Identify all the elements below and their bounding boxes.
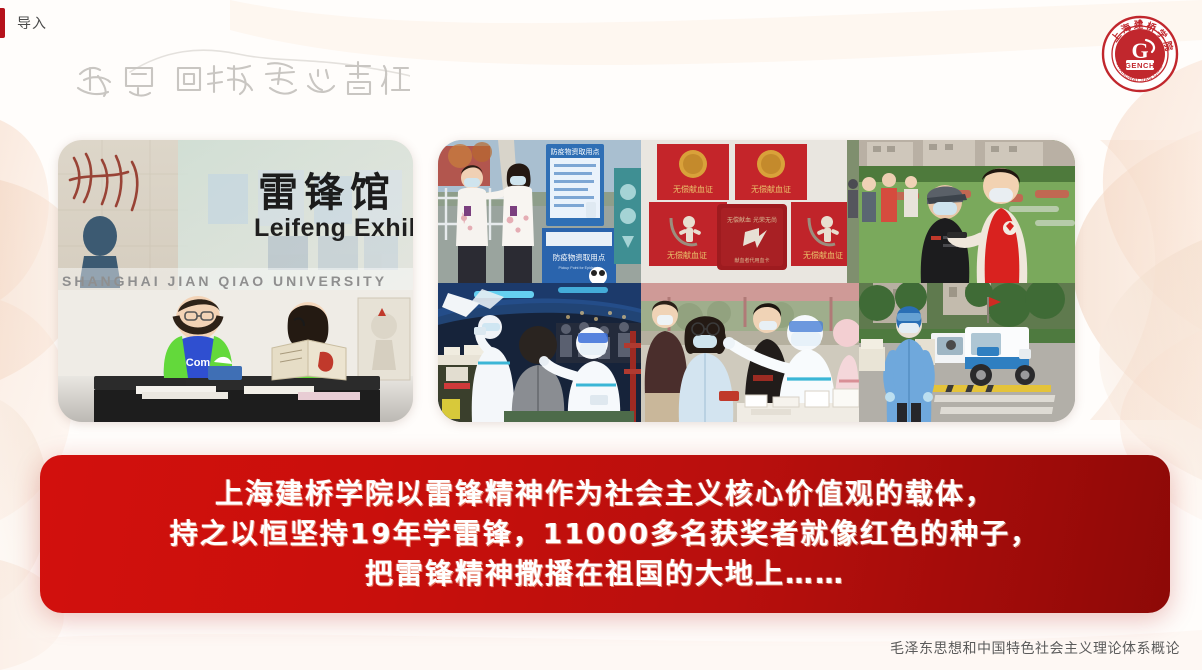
photo-grid: 防疫物资取用点 防疫物资取用点 Pickup Point for Epidemi… xyxy=(438,140,1075,422)
svg-text:无偿献血证: 无偿献血证 xyxy=(751,184,791,194)
photo-volunteers-supply-point: 防疫物资取用点 防疫物资取用点 Pickup Point for Epidemi… xyxy=(438,140,641,283)
photo-blue-ppe-volunteer-truck xyxy=(859,283,1075,422)
section-tag: 导入 xyxy=(0,8,47,38)
hero-photo-illustration: 雷锋馆 Leifeng Exhibition SHANGHAI JIAN QIA… xyxy=(58,140,413,422)
photo-2-illustration: 无偿献血证 无偿献血证 无偿献血证 无偿献血证 无偿献血 光荣无尚 xyxy=(641,140,859,283)
hero-title-cn: 雷锋馆 xyxy=(258,170,396,216)
highlight-banner: 上海建桥学院以雷锋精神作为社会主义核心价值观的载体， 持之以恒坚持19年学雷锋，… xyxy=(40,455,1170,613)
hero-glass-text: SHANGHAI JIAN QIAO UNIVERSITY xyxy=(62,273,387,289)
university-logo-mark: G GENCH 上海建桥学院 SHANGHAI JIAN QIAO UNIVER… xyxy=(1100,14,1180,94)
svg-text:Com: Com xyxy=(186,357,211,369)
section-tag-accent-bar xyxy=(0,8,5,38)
photo-3-illustration xyxy=(859,140,1075,283)
banner-line-1: 上海建桥学院以雷锋精神作为社会主义核心价值观的载体， xyxy=(215,474,995,514)
svg-text:防疫物资取用点: 防疫物资取用点 xyxy=(553,252,606,262)
photo-6-illustration xyxy=(859,283,1075,422)
photo-5-illustration xyxy=(641,283,859,422)
hero-title-en: Leifeng Exhibition xyxy=(254,214,413,242)
photo-day-nucleic-acid-test xyxy=(641,283,859,422)
svg-text:无偿献血证: 无偿献血证 xyxy=(667,250,707,260)
photo-red-vest-volunteer-field xyxy=(859,140,1075,283)
calligraphy-strokes xyxy=(70,44,410,106)
banner-line-3: 把雷锋精神撒播在祖国的大地上…… xyxy=(365,554,845,594)
svg-text:献血者代用血卡: 献血者代用血卡 xyxy=(734,257,769,264)
banner-line-2: 持之以恒坚持19年学雷锋，11000多名获奖者就像红色的种子， xyxy=(170,514,1040,554)
section-tag-label: 导入 xyxy=(17,13,47,33)
svg-text:防疫物资取用点: 防疫物资取用点 xyxy=(551,147,600,156)
photo-4-illustration xyxy=(438,283,641,422)
hero-photo-leifeng-exhibition: 雷锋馆 Leifeng Exhibition SHANGHAI JIAN QIA… xyxy=(58,140,413,422)
university-logo: G GENCH 上海建桥学院 SHANGHAI JIAN QIAO UNIVER… xyxy=(1100,14,1180,94)
svg-text:无偿献血证: 无偿献血证 xyxy=(673,184,713,194)
photo-blood-donation-certificates: 无偿献血证 无偿献血证 无偿献血证 无偿献血证 无偿献血 光荣无尚 xyxy=(641,140,859,283)
logo-wordmark: GENCH xyxy=(1125,61,1155,70)
photo-night-nucleic-acid-test xyxy=(438,283,641,422)
svg-text:无偿献血 光荣无尚: 无偿献血 光荣无尚 xyxy=(727,216,777,224)
svg-text:无偿献血证: 无偿献血证 xyxy=(803,250,843,260)
photo-1-illustration: 防疫物资取用点 防疫物资取用点 Pickup Point for Epidemi… xyxy=(438,140,641,283)
calligraphy-headline xyxy=(70,44,410,106)
logo-monogram: G xyxy=(1131,38,1148,63)
course-footer: 毛泽东思想和中国特色社会主义理论体系概论 xyxy=(890,638,1180,658)
